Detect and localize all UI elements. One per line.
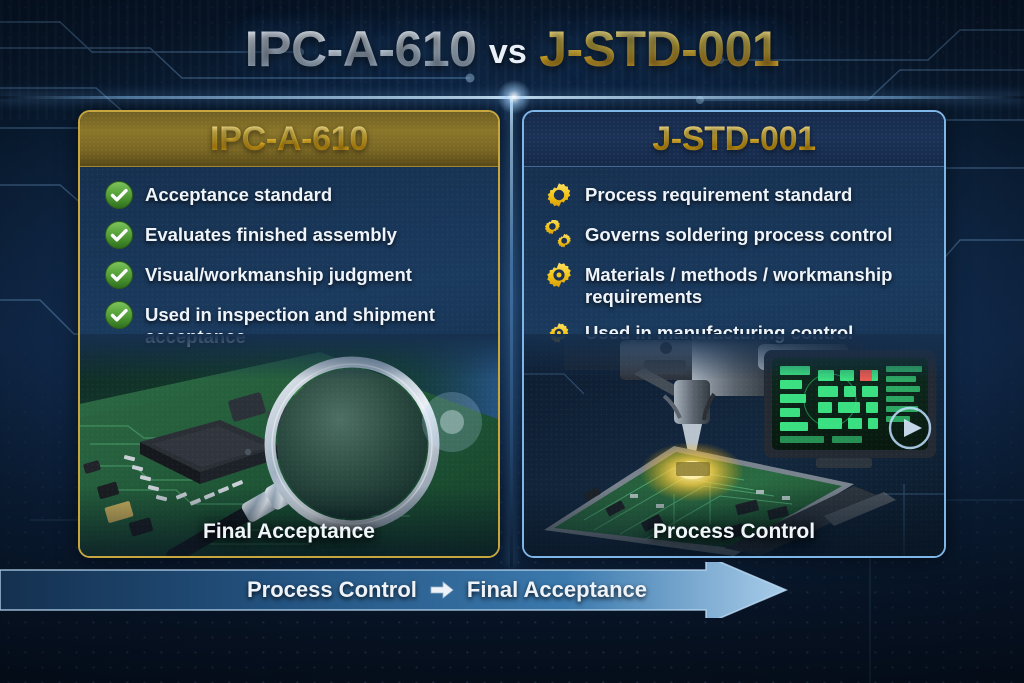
title-flare-glow: [496, 79, 532, 115]
bullet-text: Governs soldering process control: [585, 221, 892, 246]
flow-from-label: Process Control: [247, 577, 417, 603]
bullet-list-j-std-001: Process requirement standard: [524, 167, 944, 348]
bullet-text: Materials / methods / workmanship requir…: [585, 261, 930, 308]
bullet-text: Visual/workmanship judgment: [145, 261, 412, 286]
bullet-text: Process requirement standard: [585, 181, 852, 206]
list-item: Process requirement standard: [544, 181, 930, 210]
title-right-standard: J-STD-001: [539, 21, 779, 77]
list-item: Acceptance standard: [104, 181, 484, 210]
infographic-canvas: IPC-A-610 vs J-STD-001 IPC-A-610: [0, 0, 1024, 683]
bullet-text: Evaluates finished assembly: [145, 221, 397, 246]
check-circle-icon: [104, 220, 134, 250]
panel-body-j-std-001: Process requirement standard: [524, 167, 944, 556]
panel-body-ipc-a-610: Acceptance standard Evaluates finished a…: [80, 167, 498, 556]
panel-ipc-a-610[interactable]: IPC-A-610 Acceptance standard: [78, 110, 500, 558]
bullet-text: Acceptance standard: [145, 181, 332, 206]
flow-to-label: Final Acceptance: [467, 577, 647, 603]
photo-caption-final-acceptance: Final Acceptance: [80, 520, 498, 544]
gear-icon: [544, 260, 574, 290]
panel-heading-text: J-STD-001: [652, 120, 816, 159]
photo-caption-process-control: Process Control: [524, 520, 944, 544]
panel-j-std-001[interactable]: J-STD-001 Process requirement standard: [522, 110, 946, 558]
check-circle-icon: [104, 260, 134, 290]
panel-heading-text: IPC-A-610: [210, 120, 368, 159]
photo-top-fade: [524, 334, 944, 380]
double-gear-icon: [544, 220, 574, 250]
list-item: Evaluates finished assembly: [104, 221, 484, 250]
page-title: IPC-A-610 vs J-STD-001: [0, 24, 1024, 74]
check-circle-icon: [104, 300, 134, 330]
photo-top-fade: [80, 334, 498, 380]
panel-header-j-std-001: J-STD-001: [524, 112, 944, 167]
list-item: Visual/workmanship judgment: [104, 261, 484, 290]
list-item: Governs soldering process control: [544, 221, 930, 250]
gear-icon: [544, 180, 574, 210]
flow-arrow-band: Process Control Final Acceptance: [0, 562, 1024, 618]
panel-header-ipc-a-610: IPC-A-610: [80, 112, 498, 167]
bullet-list-ipc-a-610: Acceptance standard Evaluates finished a…: [80, 167, 498, 348]
title-left-standard: IPC-A-610: [245, 21, 477, 77]
photo-pcb-inspection: Final Acceptance: [80, 334, 498, 556]
photo-soldering-machine: Process Control: [524, 334, 944, 556]
check-circle-icon: [104, 180, 134, 210]
panel-divider-line: [510, 97, 513, 567]
flow-arrow-label: Process Control Final Acceptance: [0, 562, 1024, 618]
arrow-right-icon: [429, 580, 455, 600]
list-item: Materials / methods / workmanship requir…: [544, 261, 930, 308]
title-vs-separator: vs: [489, 33, 527, 71]
